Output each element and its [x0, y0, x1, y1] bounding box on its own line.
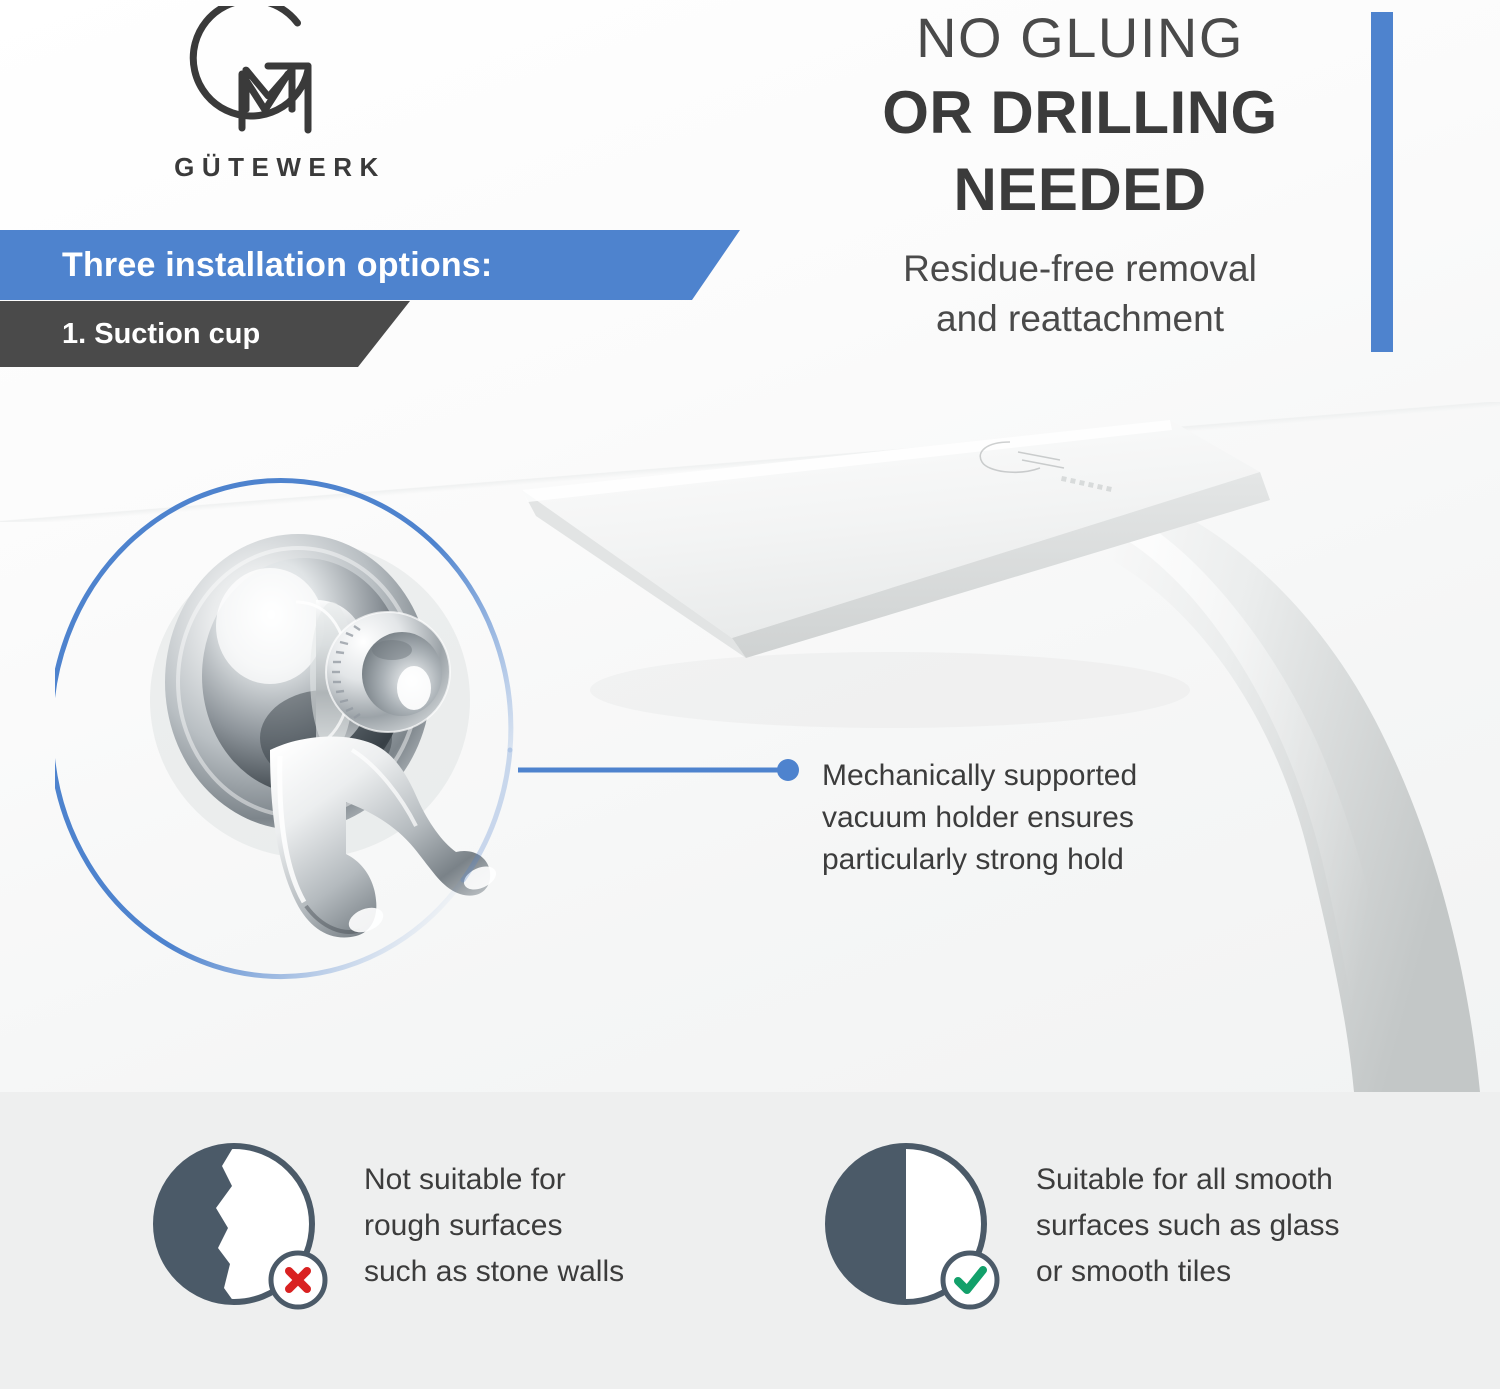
- callout-line-2: vacuum holder ensures: [822, 797, 1222, 839]
- headline-accent-bar: [1371, 12, 1393, 352]
- brand-wordmark: GÜTEWERK: [150, 152, 410, 183]
- headline-sub-line-1: Residue-free removal: [820, 244, 1340, 294]
- compatibility-label-suitable: Suitable for all smooth surfaces such as…: [1036, 1157, 1339, 1295]
- callout-line-1: Mechanically supported: [822, 755, 1222, 797]
- highlight-ring-icon: [55, 450, 575, 990]
- callout-leader-dot: [777, 759, 799, 781]
- headline-line-1: NO GLUING: [820, 6, 1340, 70]
- installation-options-ribbon: Three installation options:: [0, 230, 740, 300]
- headline-line-2: OR DRILLING: [820, 74, 1340, 152]
- callout-leader-line: [500, 750, 810, 790]
- suction-cup-label: 1. Suction cup: [0, 318, 260, 351]
- installation-options-label: Three installation options:: [0, 246, 492, 285]
- callout-text: Mechanically supported vacuum holder ens…: [822, 755, 1222, 881]
- brand-logo: GÜTEWERK: [150, 6, 410, 191]
- gutewerk-g-w-monogram-icon: [180, 6, 360, 138]
- infographic-canvas: GÜTEWERK Three installation options: 1. …: [0, 0, 1500, 1389]
- product-photo-stage: [0, 390, 1500, 1092]
- compatibility-item-suitable: Suitable for all smooth surfaces such as…: [822, 1136, 1339, 1316]
- headline-block: NO GLUING OR DRILLING NEEDED Residue-fre…: [820, 6, 1340, 344]
- rough-surface-circle-icon: [150, 1136, 330, 1316]
- suction-cup-ribbon: 1. Suction cup: [0, 301, 410, 367]
- headline-line-3: NEEDED: [820, 152, 1340, 228]
- smooth-surface-circle-icon: [822, 1136, 1002, 1316]
- compatibility-panel: Not suitable for rough surfaces such as …: [0, 1092, 1500, 1389]
- compatibility-item-not-suitable: Not suitable for rough surfaces such as …: [150, 1136, 624, 1316]
- white-squeegee-icon: [470, 390, 1500, 1092]
- compatibility-label-not-suitable: Not suitable for rough surfaces such as …: [364, 1157, 624, 1295]
- headline-sub-line-2: and reattachment: [820, 294, 1340, 344]
- callout-line-3: particularly strong hold: [822, 839, 1222, 881]
